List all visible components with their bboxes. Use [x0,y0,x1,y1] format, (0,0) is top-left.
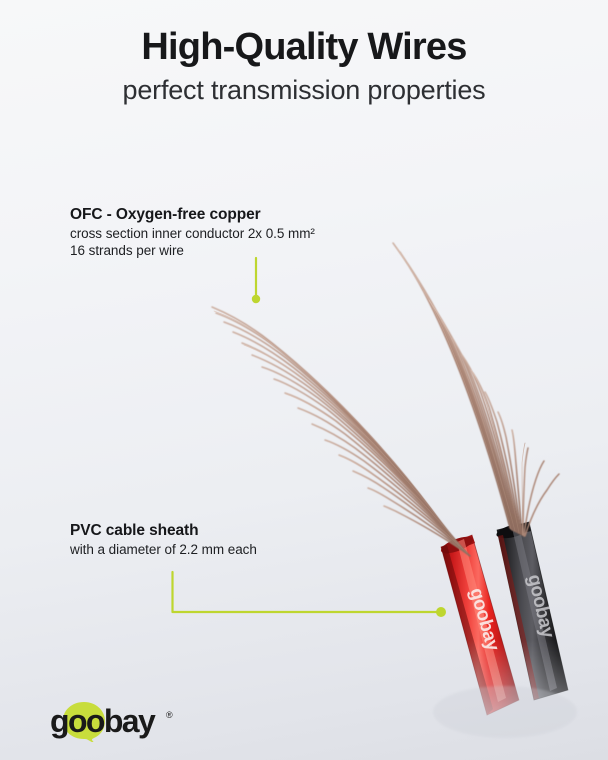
page-title: High-Quality Wires [0,26,608,69]
copper-strands-black-highlight [397,248,525,535]
page-subtitle: perfect transmission properties [0,75,608,106]
annotation-ofc-line-2: 16 strands per wire [70,243,315,258]
black-cable: goobay [495,521,568,700]
leader-line-ofc [246,252,268,310]
goobay-logo: goobay ® [48,698,188,742]
leader-line-pvc [164,564,460,626]
logo-wordmark: goobay [50,703,156,739]
svg-text:goobay: goobay [465,586,503,654]
svg-text:goobay: goobay [523,572,558,640]
annotation-pvc-line-1: with a diameter of 2.2 mm each [70,542,257,557]
copper-strands-red-highlight [214,311,467,553]
annotation-pvc-title: PVC cable sheath [70,522,257,540]
copper-strands-red [212,307,470,556]
product-infographic: goobay goobay [0,0,608,760]
annotation-pvc: PVC cable sheath with a diameter of 2.2 … [70,522,257,557]
annotation-ofc: OFC - Oxygen-free copper cross section i… [70,206,315,258]
annotation-ofc-title: OFC - Oxygen-free copper [70,206,315,224]
product-photo: goobay goobay [0,0,608,760]
logo-registered-mark: ® [166,710,173,720]
annotation-ofc-line-1: cross section inner conductor 2x 0.5 mm² [70,226,315,241]
copper-strands-black [393,243,559,536]
heading-block: High-Quality Wires perfect transmission … [0,26,608,106]
